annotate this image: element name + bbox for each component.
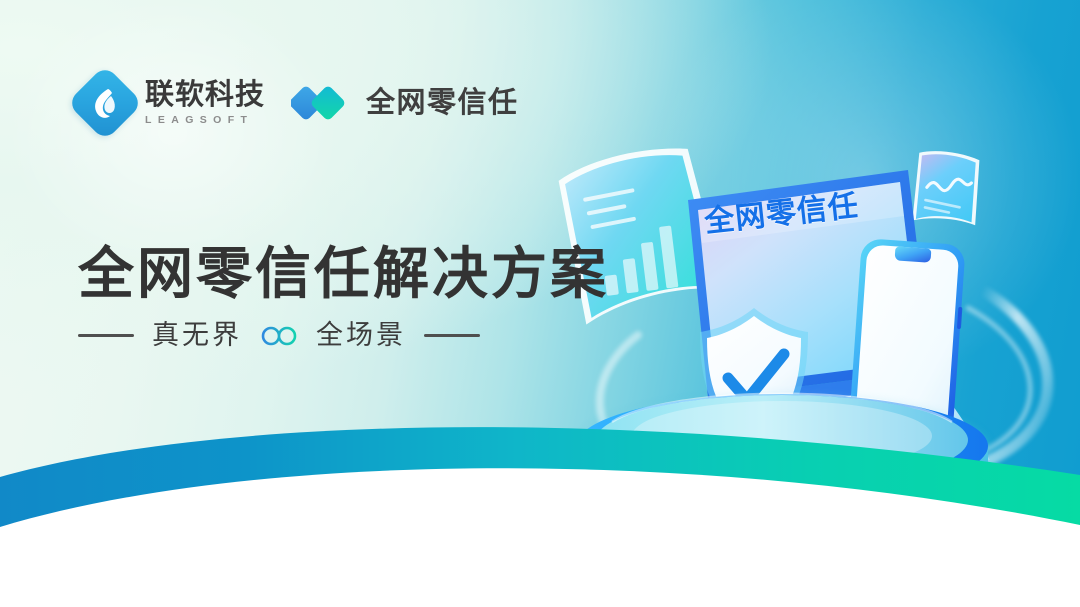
subtitle-left: 真无界 [152,322,242,349]
logo-leagsoft[interactable]: 联软科技 LEAGSOFT [78,76,265,130]
subtitle-row: 真无界 全场景 [78,322,480,349]
bottom-wave [0,417,1080,607]
leagsoft-flame-diamond-icon [78,76,132,130]
banner-root: 全网零信任 真无界 ∞ 全场景 [0,0,1080,607]
logo-bar: 联软科技 LEAGSOFT [78,76,519,130]
line-chart-card-icon [905,146,989,234]
divider-right [424,334,480,337]
infinity-icon [260,323,298,349]
leagsoft-cn-name: 联软科技 [145,81,265,110]
logo-zero-trust[interactable]: 全网零信任 [291,80,519,126]
double-diamond-icon [291,80,353,126]
background-glow-left [0,0,529,425]
divider-left [78,334,134,337]
page-title: 全网零信任解决方案 [78,246,609,302]
subtitle-right: 全场景 [316,322,406,349]
zero-trust-cn-name: 全网零信任 [366,89,519,118]
leagsoft-en-name: LEAGSOFT [145,115,265,126]
